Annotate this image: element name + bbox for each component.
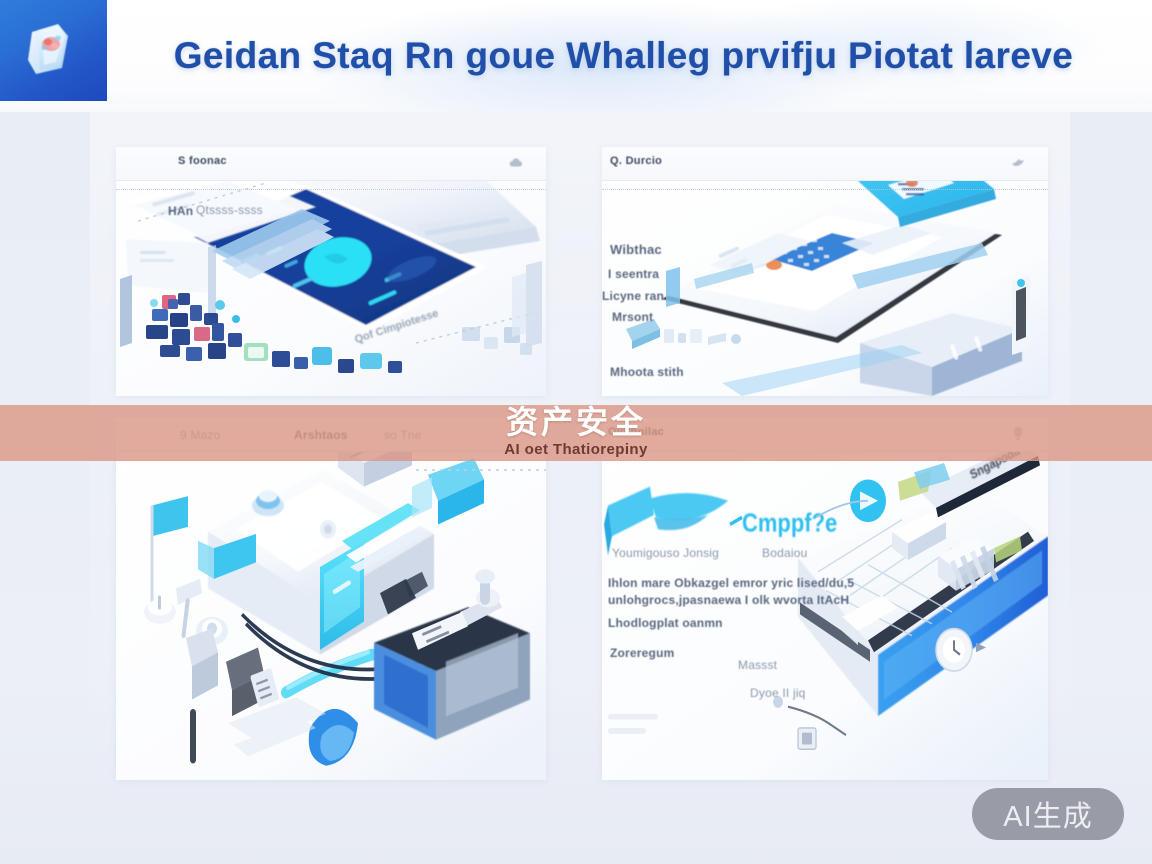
panel-bottom-right[interactable]: Sngapoda Cmppf?e: [602, 418, 1048, 780]
page-header: Geidan Staq Rn goue Whalleg prvifju Piot…: [0, 0, 1152, 112]
ghost-label-5: Lhodlogplat oanmn: [608, 616, 723, 630]
page-title-container: Geidan Staq Rn goue Whalleg prvifju Piot…: [107, 0, 1152, 112]
cloud-icon[interactable]: [508, 155, 524, 171]
ai-generated-label: AI生成: [1003, 793, 1092, 835]
banner-subtitle: AI oet Thatiorepiny: [504, 442, 647, 457]
app-logo[interactable]: [0, 0, 107, 101]
panel-bottom-left[interactable]: 9 Mazo Arshtaos so Tne: [116, 418, 546, 780]
ghost-label-3: Ihlon mare Obkazgel emror yric lised/du,…: [608, 576, 854, 590]
isometric-dashboard-illustration: Qof Cimpiotesse: [116, 147, 546, 396]
banner-title: 资产安全: [506, 406, 646, 438]
ghost-label-1: Youmigouso Jonsig: [612, 546, 719, 560]
panel-top-right-label: Q. Durcio: [610, 155, 662, 167]
ghost-label-4: Mrsont: [612, 310, 653, 324]
ghost-label-2: Qtssss-ssss: [196, 203, 263, 217]
ghost-label-7: Massst: [738, 658, 777, 672]
ghost-label-5: Mhoota stith: [610, 365, 684, 379]
panel-top-right-divider: [602, 189, 1048, 190]
panel-top-left[interactable]: Qof Cimpiotesse S foonac HAn Qtssss-ssss: [116, 147, 546, 396]
shield-book-logo-icon: [18, 16, 84, 82]
bird-icon[interactable]: [1010, 155, 1026, 171]
ghost-label-8: Dyoe II jiq: [750, 686, 806, 700]
panel-top-right[interactable]: Q. Durcio Wibthac I seentra Licyne ran M…: [602, 147, 1048, 396]
content-stage: Qof Cimpiotesse S foonac HAn Qtssss-ssss: [0, 112, 1152, 864]
ghost-label-4: unlohgrocs,jpasnaewa I olk wvorta ItAcH: [608, 593, 849, 607]
ghost-label-1: HAn: [168, 204, 193, 218]
panel-top-left-divider: [116, 189, 546, 190]
ghost-label-2: I seentra: [608, 267, 659, 281]
asset-security-banner: 资产安全 AI oet Thatiorepiny: [0, 405, 1152, 461]
ghost-label-2: Bodaiou: [762, 546, 807, 560]
panel-top-left-label: S foonac: [178, 155, 227, 167]
ghost-label-6: Zoreregum: [610, 646, 674, 660]
page-title: Geidan Staq Rn goue Whalleg prvifju Piot…: [174, 35, 1074, 77]
illustration-grid: Qof Cimpiotesse S foonac HAn Qtssss-ssss: [116, 147, 1048, 780]
isometric-tablet-card-illustration: [602, 147, 1048, 396]
ai-generated-watermark: AI生成: [972, 788, 1124, 840]
isometric-machinery-illustration: [116, 418, 546, 780]
ghost-label-1: Wibthac: [610, 242, 662, 257]
ghost-label-3: Licyne ran: [602, 289, 664, 303]
panel-top-right-titlebar: [602, 147, 1048, 181]
